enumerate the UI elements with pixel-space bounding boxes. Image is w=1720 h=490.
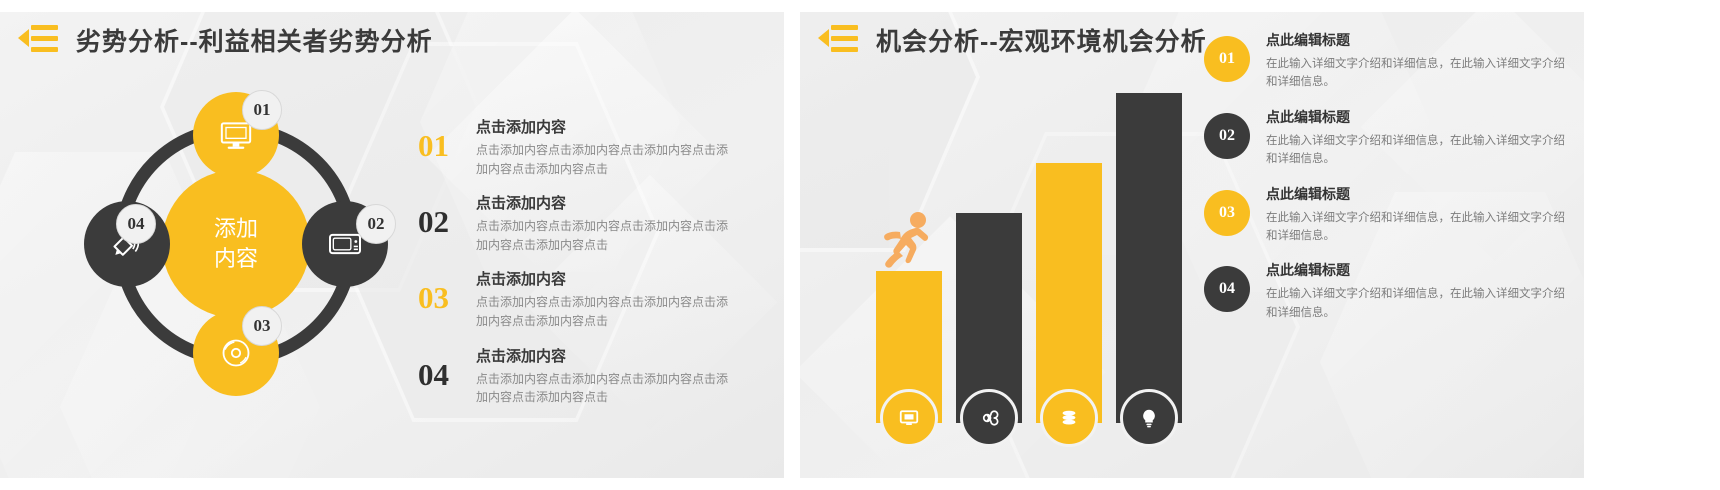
diagram-badge-02: 02 — [356, 204, 396, 244]
diagram-badge-04: 04 — [116, 204, 156, 244]
page-title: 机会分析--宏观环境机会分析 — [876, 22, 1207, 58]
list-item-number: 03 — [418, 268, 476, 313]
list-item[interactable]: 03 点此编辑标题 在此输入详细文字介绍和详细信息，在此输入详细文字介绍和详细信… — [1204, 184, 1574, 246]
list-item-number: 04 — [418, 345, 476, 390]
list-item-number: 01 — [418, 116, 476, 161]
list-item-title: 点击添加内容 — [476, 345, 738, 366]
list-item-body: 在此输入详细文字介绍和详细信息，在此输入详细文字介绍和详细信息。 — [1266, 209, 1574, 246]
menu-collapse-icon — [818, 23, 858, 57]
bar-1-icon-pill[interactable] — [880, 389, 938, 447]
diagram-badge-03: 03 — [242, 306, 282, 346]
list-item-number: 01 — [1204, 36, 1250, 82]
list-item[interactable]: 01 点此编辑标题 在此输入详细文字介绍和详细信息，在此输入详细文字介绍和详细信… — [1204, 30, 1574, 92]
list-item[interactable]: 02 点此编辑标题 在此输入详细文字介绍和详细信息，在此输入详细文字介绍和详细信… — [1204, 107, 1574, 169]
list-item-body: 点击添加内容点击添加内容点击添加内容点击添加内容点击添加内容点击 — [476, 370, 738, 407]
list-item-body: 点击添加内容点击添加内容点击添加内容点击添加内容点击添加内容点击 — [476, 217, 738, 254]
diagram-center-line2: 内容 — [214, 244, 258, 274]
slide-divider — [784, 0, 800, 490]
cycle-diagram: 添加 内容 01 — [86, 94, 386, 394]
bulb-icon — [1137, 406, 1161, 430]
list-item-number: 03 — [1204, 190, 1250, 236]
bar-3-icon-pill[interactable] — [1040, 389, 1098, 447]
list-item-body: 点击添加内容点击添加内容点击添加内容点击添加内容点击添加内容点击 — [476, 293, 738, 330]
slide-header: 劣势分析--利益相关者劣势分析 — [18, 22, 433, 58]
list-item-title: 点击添加内容 — [476, 192, 738, 213]
bar-2-icon-pill[interactable] — [960, 389, 1018, 447]
list-item-body: 在此输入详细文字介绍和详细信息，在此输入详细文字介绍和详细信息。 — [1266, 285, 1574, 322]
bar-4[interactable] — [1116, 93, 1182, 423]
slide-weakness-analysis: 劣势分析--利益相关者劣势分析 添加 内容 01 — [0, 12, 784, 478]
list-item-title: 点此编辑标题 — [1266, 107, 1574, 127]
monitor-icon — [897, 406, 921, 430]
list-item-title: 点此编辑标题 — [1266, 184, 1574, 204]
list-item-body: 在此输入详细文字介绍和详细信息，在此输入详细文字介绍和详细信息。 — [1266, 55, 1574, 92]
infinity-icon — [977, 406, 1001, 430]
growth-bar-chart — [830, 93, 1190, 423]
list-item-title: 点击添加内容 — [476, 268, 738, 289]
diagram-badge-01: 01 — [242, 90, 282, 130]
weakness-list: 01 点击添加内容 点击添加内容点击添加内容点击添加内容点击添加内容点击添加内容… — [418, 116, 738, 421]
bar-2[interactable] — [956, 213, 1022, 423]
list-item-body: 点击添加内容点击添加内容点击添加内容点击添加内容点击添加内容点击 — [476, 141, 738, 178]
page-title: 劣势分析--利益相关者劣势分析 — [76, 22, 433, 58]
list-item-title: 点此编辑标题 — [1266, 260, 1574, 280]
slide-opportunity-analysis: 机会分析--宏观环境机会分析 — [800, 12, 1584, 478]
list-item[interactable]: 01 点击添加内容 点击添加内容点击添加内容点击添加内容点击添加内容点击添加内容… — [418, 116, 738, 178]
list-item-number: 02 — [418, 192, 476, 237]
opportunity-list: 01 点此编辑标题 在此输入详细文字介绍和详细信息，在此输入详细文字介绍和详细信… — [1204, 30, 1574, 337]
menu-collapse-icon — [18, 23, 58, 57]
diagram-center[interactable]: 添加 内容 — [162, 170, 310, 318]
coins-icon — [1057, 406, 1081, 430]
list-item[interactable]: 03 点击添加内容 点击添加内容点击添加内容点击添加内容点击添加内容点击添加内容… — [418, 268, 738, 330]
list-item-title: 点此编辑标题 — [1266, 30, 1574, 50]
list-item-title: 点击添加内容 — [476, 116, 738, 137]
list-item[interactable]: 04 点此编辑标题 在此输入详细文字介绍和详细信息，在此输入详细文字介绍和详细信… — [1204, 260, 1574, 322]
running-person-icon — [876, 207, 940, 271]
list-item-number: 02 — [1204, 113, 1250, 159]
list-item-number: 04 — [1204, 266, 1250, 312]
bar-4-icon-pill[interactable] — [1120, 389, 1178, 447]
list-item[interactable]: 04 点击添加内容 点击添加内容点击添加内容点击添加内容点击添加内容点击添加内容… — [418, 345, 738, 407]
slide-deck: 劣势分析--利益相关者劣势分析 添加 内容 01 — [0, 0, 1720, 490]
bar-1[interactable] — [876, 271, 942, 423]
bar-3[interactable] — [1036, 163, 1102, 423]
diagram-center-line1: 添加 — [214, 214, 258, 244]
slide-header: 机会分析--宏观环境机会分析 — [818, 22, 1207, 58]
list-item-body: 在此输入详细文字介绍和详细信息，在此输入详细文字介绍和详细信息。 — [1266, 132, 1574, 169]
list-item[interactable]: 02 点击添加内容 点击添加内容点击添加内容点击添加内容点击添加内容点击添加内容… — [418, 192, 738, 254]
